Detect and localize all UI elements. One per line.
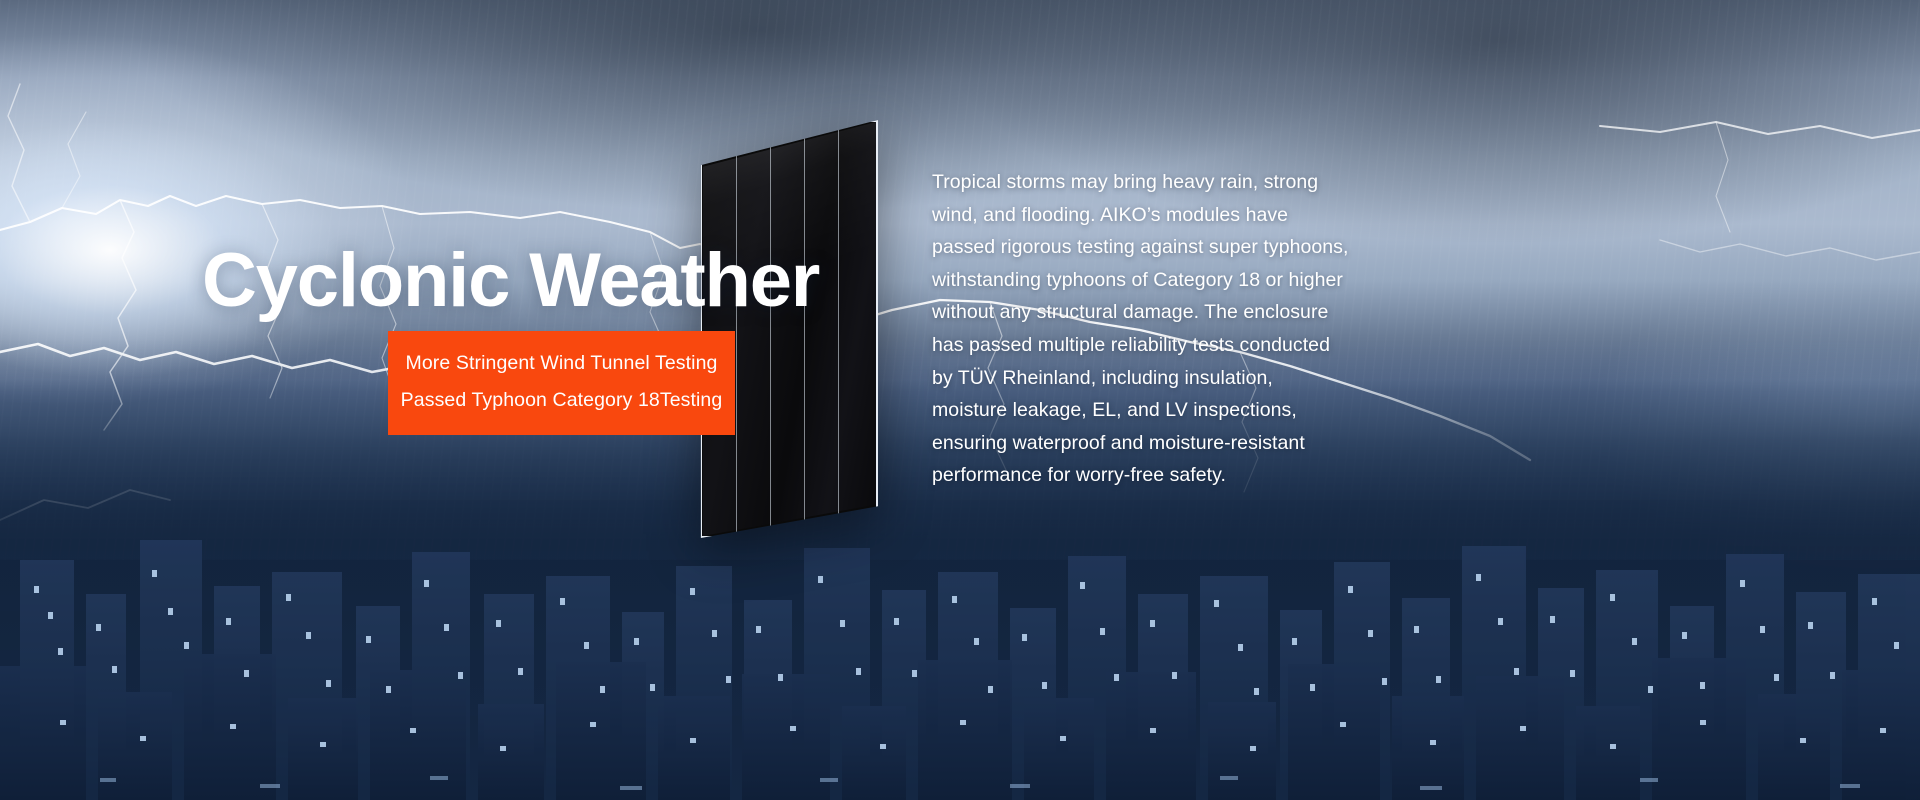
solar-cell-divider [770, 122, 771, 536]
hero-headline: Cyclonic Weather [202, 243, 819, 319]
hero-description: Tropical storms may bring heavy rain, st… [932, 166, 1352, 492]
solar-panel-frame [700, 120, 878, 538]
badge-line-1: More Stringent Wind Tunnel Testing [388, 345, 735, 382]
solar-panel-module [700, 120, 878, 538]
badge-line-2: Passed Typhoon Category 18Testing [388, 382, 735, 419]
certification-badge: More Stringent Wind Tunnel Testing Passe… [388, 331, 735, 435]
solar-panel-sheen [702, 122, 876, 536]
solar-cell-divider [838, 122, 839, 536]
solar-cell-divider [804, 122, 805, 536]
cyclonic-weather-hero-banner: Cyclonic Weather More Stringent Wind Tun… [0, 0, 1920, 800]
solar-cell-divider [736, 122, 737, 536]
